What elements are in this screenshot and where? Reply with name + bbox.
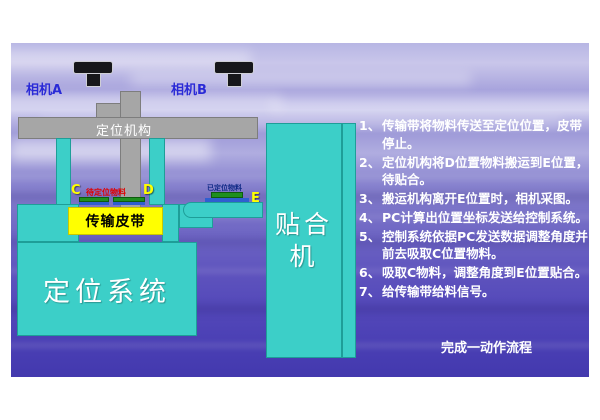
closing-note: 完成一动作流程 (441, 337, 532, 356)
positioning-mechanism-label: 定位机构 (96, 120, 152, 139)
camera-a-label: 相机A (26, 79, 62, 98)
laminating-machine-label: 贴合机 (267, 209, 341, 272)
list-item: 5、 控制系统依据PC发送数据调整角度并前去吸取C位置物料。 (359, 228, 589, 264)
step-text: 定位机构将D位置物料搬运到E位置，待贴合。 (382, 154, 589, 190)
e-station-platform (183, 202, 263, 218)
step-number: 2、 (359, 154, 382, 172)
cloud-streak (11, 139, 211, 161)
camera-a-icon (73, 61, 113, 87)
machine-side-rail (342, 123, 356, 358)
list-item: 1、 传输带将物料传送至定位位置，皮带停止。 (359, 117, 589, 153)
conveyor-frame-right (162, 204, 179, 242)
step-text: 传输带将物料传送至定位位置，皮带停止。 (382, 117, 589, 153)
diagram-canvas: 相机A 相机B 定位机构 待定位物料 C D 传输皮带 定位系统 已定位物料 E… (11, 43, 589, 377)
step-number: 3、 (359, 190, 382, 208)
step-number: 5、 (359, 228, 382, 246)
cloud-streak (271, 101, 589, 111)
list-item: 6、 吸取C物料，调整角度到E位置贴合。 (359, 264, 589, 282)
camera-lens (86, 73, 101, 87)
list-item: 4、 PC计算出位置坐标发送给控制系统。 (359, 209, 589, 227)
step-text: 给传输带给料信号。 (382, 283, 589, 301)
camera-b-label: 相机B (171, 79, 207, 98)
position-marker-c: C (71, 183, 81, 198)
step-number: 1、 (359, 117, 382, 135)
camera-lens (227, 73, 242, 87)
support-column-left (56, 138, 71, 205)
step-number: 7、 (359, 283, 382, 301)
camera-b-icon (214, 61, 254, 87)
positioning-system-box: 定位系统 (17, 242, 197, 336)
step-text: 搬运机构离开E位置时，相机采图。 (382, 190, 589, 208)
material-d-base (113, 202, 145, 205)
material-to-be-positioned-label: 待定位物料 (86, 187, 126, 198)
list-item: 2、 定位机构将D位置物料搬运到E位置，待贴合。 (359, 154, 589, 190)
step-text: 吸取C物料，调整角度到E位置贴合。 (382, 264, 589, 282)
list-item: 7、 给传输带给料信号。 (359, 283, 589, 301)
laminating-machine-box: 贴合机 (266, 123, 342, 358)
material-c-base (79, 202, 109, 205)
step-number: 6、 (359, 264, 382, 282)
step-text: 控制系统依据PC发送数据调整角度并前去吸取C位置物料。 (382, 228, 589, 264)
process-steps-list: 1、 传输带将物料传送至定位位置，皮带停止。 2、 定位机构将D位置物料搬运到E… (359, 117, 589, 302)
list-item: 3、 搬运机构离开E位置时，相机采图。 (359, 190, 589, 208)
position-marker-d: D (143, 183, 154, 198)
step-text: PC计算出位置坐标发送给控制系统。 (382, 209, 589, 227)
conveyor-belt: 传输皮带 (68, 207, 163, 235)
step-number: 4、 (359, 209, 382, 227)
